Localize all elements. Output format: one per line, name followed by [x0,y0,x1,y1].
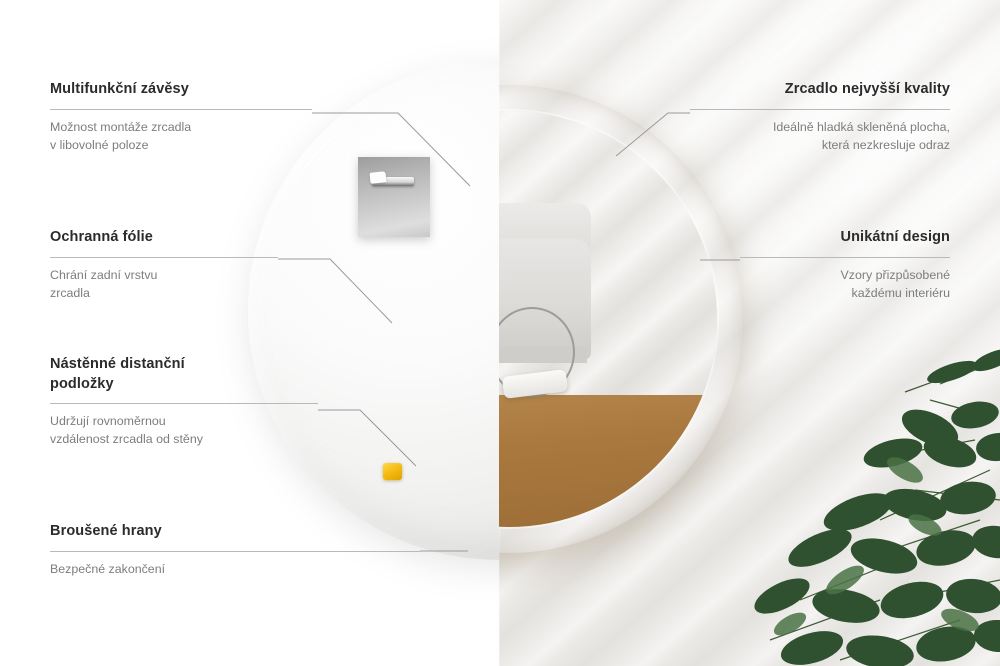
callout-rule [740,257,950,258]
callout-rule [50,403,318,404]
callout-body: Vzory přizpůsobené každému interiéru [740,267,950,303]
reflected-hanging-chair [499,307,585,411]
callout-multifunctional-hangers: Multifunkční závěsy Možnost montáže zrca… [50,80,312,155]
callout-body-line-2: zrcadla [50,286,90,300]
callout-body-line-2: vzdálenost zrcadla od stěny [50,432,203,446]
callout-body: Možnost montáže zrcadla v libovolné polo… [50,119,312,155]
callout-body-line-1: Udržují rovnoměrnou [50,414,166,428]
hanger-slot-icon [372,177,414,186]
callout-title: Ochranná fólie [50,228,278,248]
callout-top-quality-mirror: Zrcadlo nejvyšší kvality Ideálně hladká … [690,80,950,155]
yellow-spacer-pad [383,463,402,480]
callout-title: Multifunkční závěsy [50,80,312,100]
callout-rule [50,257,278,258]
callout-body: Bezpečné zakončení [50,561,420,579]
callout-title-line-1: Nástěnné distanční [50,356,185,372]
callout-polished-edges: Broušené hrany Bezpečné zakončení [50,522,420,579]
callout-body-line-2: v libovolné poloze [50,138,149,152]
callout-title: Broušené hrany [50,522,420,542]
callout-body-line-2: která nezkresluje odraz [822,138,950,152]
reflected-wood-floor [499,395,717,527]
hanger-bracket-detail [358,157,430,237]
callout-title: Zrcadlo nejvyšší kvality [690,80,950,100]
callout-body: Udržují rovnoměrnou vzdálenost zrcadla o… [50,413,318,449]
callout-body-line-2: každému interiéru [852,286,950,300]
round-mirror [499,85,742,555]
infographic-canvas: Multifunkční závěsy Možnost montáže zrca… [0,0,1000,666]
callout-body-line-1: Chrání zadní vrstvu [50,268,157,282]
mirror-glass [499,111,717,527]
callout-protective-film: Ochranná fólie Chrání zadní vrstvu zrcad… [50,228,278,303]
callout-body-line-1: Vzory přizpůsobené [840,268,950,282]
callout-rule [690,109,950,110]
callout-rule [50,551,420,552]
callout-body-line-1: Ideálně hladká skleněná plocha, [773,120,950,134]
callout-wall-spacers: Nástěnné distanční podložky Udržují rovn… [50,355,318,449]
callout-body: Chrání zadní vrstvu zrcadla [50,267,278,303]
callout-title: Unikátní design [740,228,950,248]
callout-body: Ideálně hladká skleněná plocha, která ne… [690,119,950,155]
callout-title-line-2: podložky [50,376,114,392]
callout-body-line-1: Možnost montáže zrcadla [50,120,191,134]
callout-rule [50,109,312,110]
callout-title: Nástěnné distanční podložky [50,355,318,394]
callout-unique-design: Unikátní design Vzory přizpůsobené každé… [740,228,950,303]
